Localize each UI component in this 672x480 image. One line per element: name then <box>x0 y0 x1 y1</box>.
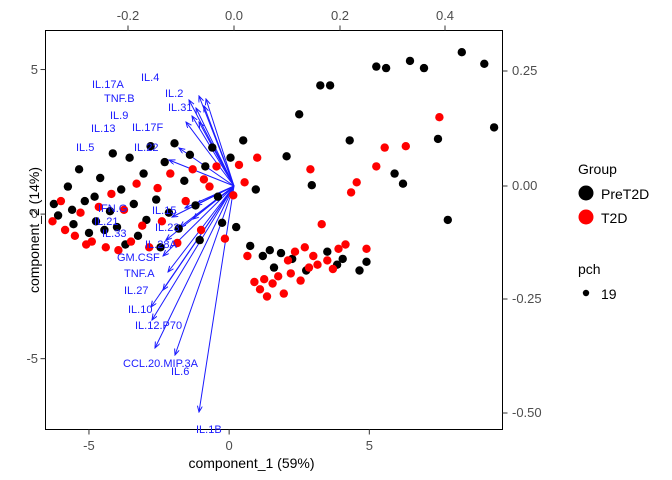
biplot-canvas <box>0 0 672 480</box>
legend-item-t2d[interactable]: T2D <box>601 210 627 226</box>
x-tick-label: -5 <box>83 438 95 453</box>
loading-vector-label: IL.13 <box>91 123 115 135</box>
loading-vector-label: IL.17A <box>92 79 124 91</box>
loading-vector-label: IL.22 <box>134 142 158 154</box>
loading-vector-label: IL.15 <box>152 205 176 217</box>
loading-vector-label: GM.CSF <box>117 252 160 264</box>
legend-title-group: Group <box>578 161 617 177</box>
y-tick-label: 5 <box>10 62 38 77</box>
right-tick-label: -0.25 <box>512 291 542 306</box>
loading-vector-label: IL.27 <box>124 285 148 297</box>
legend-item-pret2d[interactable]: PreT2D <box>601 186 649 202</box>
loading-vector-label: IL.5 <box>76 142 94 154</box>
loading-vector-label: TNF.A <box>124 268 155 280</box>
loading-vector-label: IL.33 <box>102 228 126 240</box>
legend-title-pch: pch <box>578 261 601 277</box>
loading-vector-label: IL.10 <box>128 304 152 316</box>
loading-vector-label: TNF.B <box>104 93 135 105</box>
loading-vector-label: IL.23 <box>155 222 179 234</box>
loading-vector-label: IL.21 <box>94 216 118 228</box>
right-tick-label: 0.25 <box>512 63 537 78</box>
top-tick-label: 0.2 <box>331 8 349 23</box>
loading-vector-label: IL.1B <box>196 424 222 436</box>
top-tick-label: 0.4 <box>436 8 454 23</box>
x-axis-title: component_1 (59%) <box>0 455 503 471</box>
chart-root: -50550-5-0.20.00.20.4-0.50-0.250.000.25I… <box>0 0 672 480</box>
x-tick-label: 0 <box>226 438 233 453</box>
loading-vector-label: IL.17F <box>132 122 163 134</box>
legend-item-pch-19[interactable]: 19 <box>601 286 617 302</box>
y-axis-title: component_2 (14%) <box>26 110 42 350</box>
right-tick-label: -0.50 <box>512 405 542 420</box>
top-tick-label: -0.2 <box>117 8 139 23</box>
loading-vector-label: IL.28A <box>145 239 177 251</box>
x-tick-label: 5 <box>366 438 373 453</box>
loading-vector-label: IL.4 <box>141 72 159 84</box>
top-tick-label: 0.0 <box>225 8 243 23</box>
legend-glyphs <box>579 186 594 297</box>
loading-vector-label: IL.6 <box>171 366 189 378</box>
loading-vector-label: IL.9 <box>110 110 128 122</box>
right-tick-label: 0.00 <box>512 178 537 193</box>
y-tick-label: -5 <box>10 351 38 366</box>
loading-vector-label: IL.2 <box>165 88 183 100</box>
loading-vector-label: IL.12.P70 <box>135 320 182 332</box>
loading-vector-label: IL.31 <box>168 102 192 114</box>
loading-vector-label: IFN.G <box>98 203 127 215</box>
